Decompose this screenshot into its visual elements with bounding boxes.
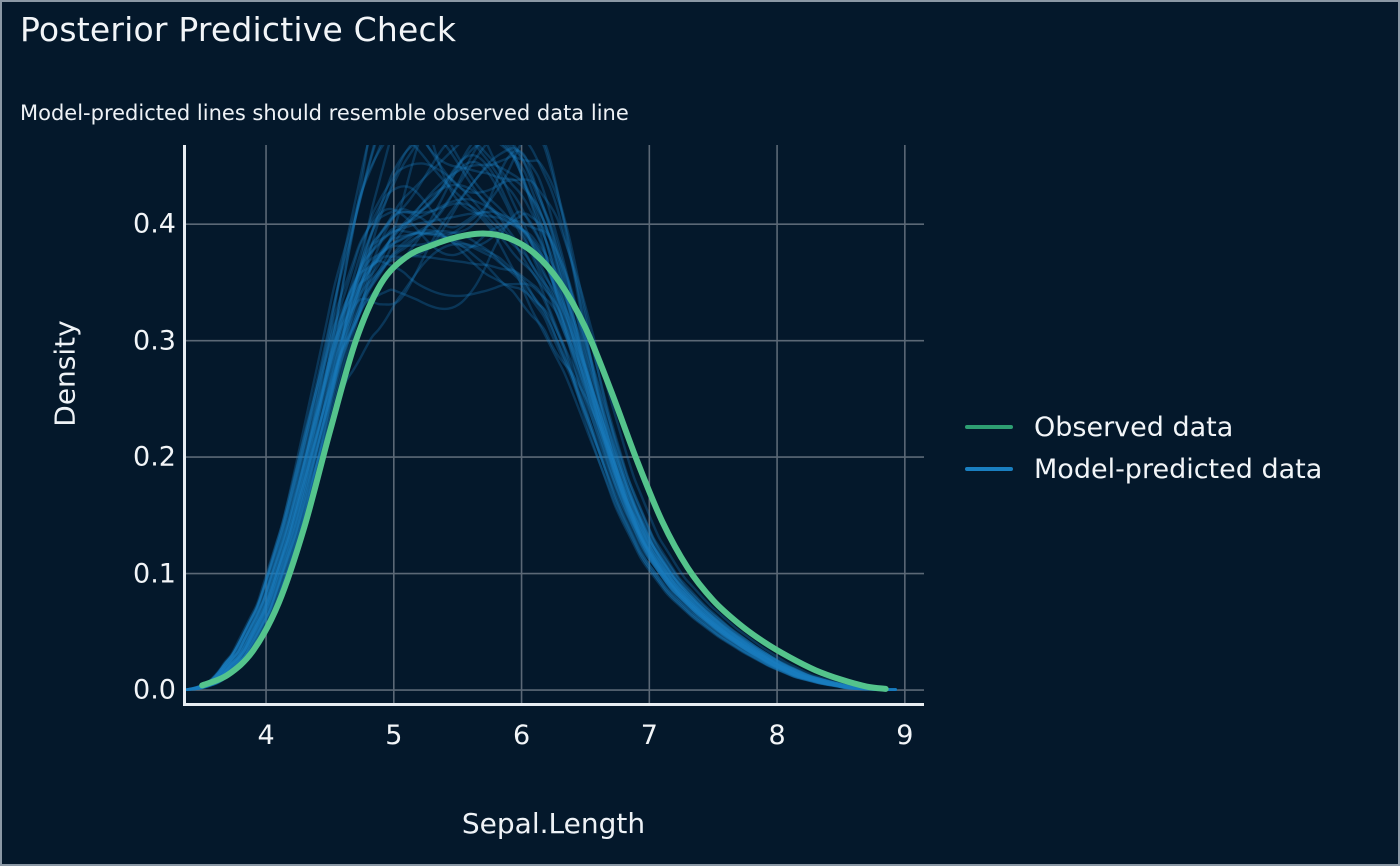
legend-label-predicted: Model-predicted data (1034, 454, 1322, 485)
chart-subtitle: Model-predicted lines should resemble ob… (20, 101, 629, 125)
x-tick-label: 6 (492, 720, 552, 751)
predicted-draw-line (187, 234, 896, 690)
predicted-draw-line (187, 233, 896, 690)
x-tick-label: 5 (364, 720, 424, 751)
legend-item-predicted[interactable]: Model-predicted data (965, 448, 1322, 490)
x-tick-label: 4 (236, 720, 296, 751)
plot-area (183, 145, 924, 704)
y-axis-label: Density (49, 284, 82, 464)
legend: Observed data Model-predicted data (965, 406, 1322, 490)
legend-swatch-predicted (965, 467, 1013, 471)
density-plot-svg (183, 145, 924, 704)
legend-swatch-observed (965, 425, 1013, 429)
chart-page: Posterior Predictive Check Model-predict… (0, 0, 1400, 866)
legend-item-observed[interactable]: Observed data (965, 406, 1322, 448)
predicted-draw-line (187, 145, 896, 690)
x-tick-label: 7 (619, 720, 679, 751)
predicted-draw-line (187, 230, 896, 689)
x-tick-label: 8 (747, 720, 807, 751)
chart-title: Posterior Predictive Check (20, 10, 456, 49)
y-axis-spine (183, 145, 186, 706)
y-tick-label: 0.1 (56, 558, 176, 589)
predicted-draw-lines (187, 145, 896, 690)
y-tick-label: 0.0 (56, 675, 176, 706)
predicted-draw-line (187, 231, 896, 689)
predicted-draw-line (187, 244, 896, 690)
legend-label-observed: Observed data (1034, 412, 1233, 443)
x-tick-label: 9 (875, 720, 935, 751)
x-axis-label: Sepal.Length (183, 807, 924, 840)
y-tick-label: 0.4 (56, 209, 176, 240)
x-axis-spine (183, 703, 924, 706)
